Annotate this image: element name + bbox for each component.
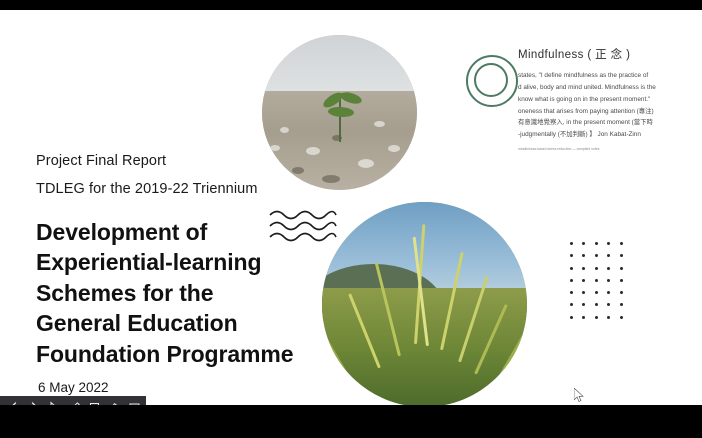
report-label: Project Final Report <box>36 148 356 176</box>
note-line: d alive, body and mind united. Mindfulne… <box>518 82 688 94</box>
triennium-label: TDLEG for the 2019-22 Triennium <box>36 176 356 204</box>
note-line: -judgmentally (不加判斷) 】 Jon Kabat-Zinn <box>518 129 688 141</box>
note-line: states, "I define mindfulness as the pra… <box>518 70 688 82</box>
note-line: oneness that arises from paying attentio… <box>518 106 688 118</box>
ground-speck <box>388 145 400 152</box>
double-circle-decoration <box>466 55 518 107</box>
title-line: Foundation Programme <box>36 339 356 369</box>
dot-grid-decoration <box>570 242 632 328</box>
presentation-viewer: Mindfulness ( 正 念 ) states, "I define mi… <box>0 0 702 438</box>
note-heading: Mindfulness ( 正 念 ) <box>518 46 688 62</box>
page-title: Development of Experiential-learning Sch… <box>36 217 356 369</box>
ground-speck <box>374 121 385 127</box>
photo-sky <box>262 35 417 94</box>
note-line: know what is going on in the present mom… <box>518 94 688 106</box>
note-footnote: mindfulness-based stress reduction — com… <box>518 147 688 152</box>
title-block: Project Final Report TDLEG for the 2019-… <box>36 148 356 369</box>
note-line: 有意識地覺察入, in the present moment (當下時 <box>518 117 688 129</box>
letterbox-bottom <box>0 405 702 438</box>
mindfulness-note: Mindfulness ( 正 念 ) states, "I define mi… <box>518 46 688 191</box>
title-line: Experiential-learning <box>36 247 356 277</box>
slide-date: 6 May 2022 <box>38 380 109 395</box>
ground-speck <box>358 159 374 168</box>
title-line: General Education <box>36 308 356 338</box>
title-line: Schemes for the <box>36 278 356 308</box>
note-body: states, "I define mindfulness as the pra… <box>518 70 688 141</box>
ground-speck <box>280 127 289 133</box>
slide-canvas: Mindfulness ( 正 念 ) states, "I define mi… <box>0 10 702 405</box>
letterbox-top <box>0 0 702 10</box>
ground-speck <box>332 135 342 141</box>
title-line: Development of <box>36 217 356 247</box>
mouse-cursor <box>574 388 584 402</box>
